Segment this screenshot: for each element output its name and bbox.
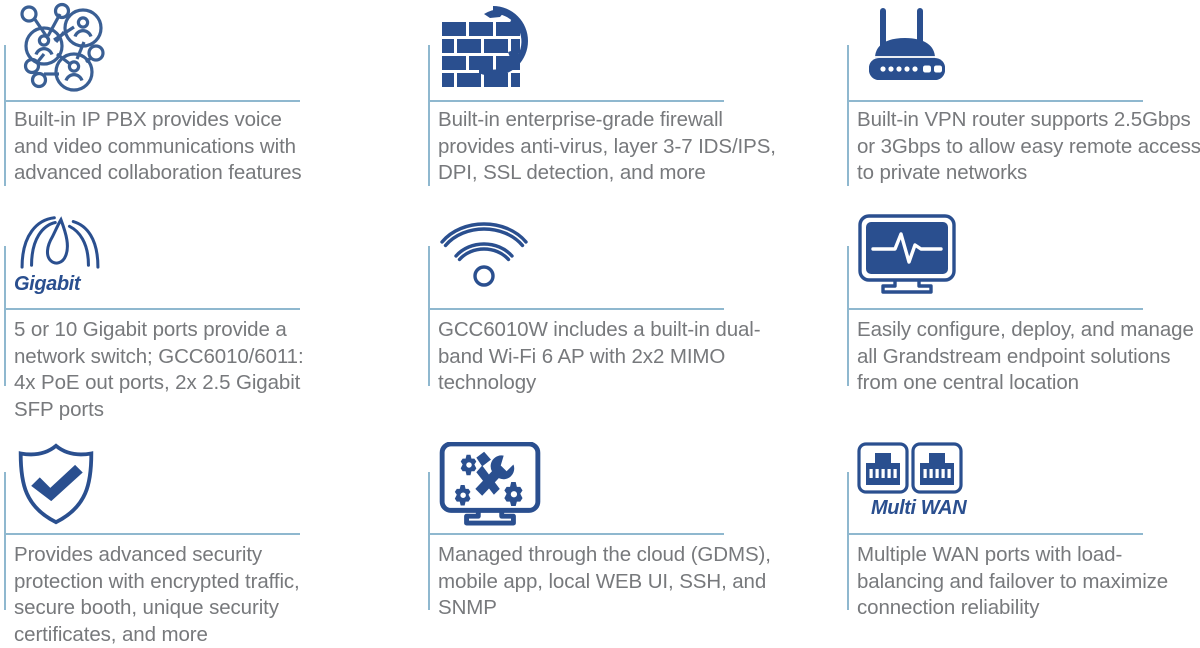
multi-wan-ports-icon [857,442,963,494]
feature-cell-wifi: GCC6010W includes a built-in dual-band W… [424,200,843,430]
vpn-router-icon-wrap [857,4,963,94]
monitor-pulse-icon [857,214,957,294]
feature-cell-central-management: Easily configure, deploy, and manage all… [843,200,1200,430]
wifi-signal-icon [438,214,534,290]
feature-cell-gigabit-ports: Gigabit 5 or 10 Gigabit ports provide a … [0,200,424,430]
monitor-tools-icon-wrap [438,442,542,526]
accent-vertical-rule [428,45,430,186]
gigabit-speed-icon [14,214,106,269]
wifi-signal-icon-wrap [438,214,534,294]
accent-horizontal-rule [428,533,724,535]
firewall-globe-icon [438,2,538,94]
accent-horizontal-rule [4,308,300,310]
accent-horizontal-rule [428,308,724,310]
feature-caption: Easily configure, deploy, and manage all… [857,317,1200,397]
feature-caption: Built-in enterprise-grade firewall provi… [438,107,778,187]
monitor-tools-icon [438,442,542,526]
accent-horizontal-rule [847,533,1143,535]
feature-caption: Managed through the cloud (GDMS), mobile… [438,542,778,622]
feature-caption: 5 or 10 Gigabit ports provide a network … [14,317,314,423]
multi-wan-ports-icon-wrap: Multi WAN [857,442,966,526]
accent-horizontal-rule [428,100,724,102]
accent-vertical-rule [847,246,849,386]
accent-vertical-rule [428,472,430,610]
gigabit-badge-label: Gigabit [14,274,80,294]
feature-grid: Built-in IP PBX provides voice and video… [0,0,1200,648]
network-users-icon [14,2,110,94]
feature-cell-ip-pbx: Built-in IP PBX provides voice and video… [0,0,424,200]
feature-caption: Provides advanced security protection wi… [14,542,314,648]
accent-vertical-rule [847,45,849,186]
accent-horizontal-rule [4,100,300,102]
feature-caption: Built-in IP PBX provides voice and video… [14,107,314,187]
feature-caption: GCC6010W includes a built-in dual-band W… [438,317,778,397]
accent-vertical-rule [847,472,849,610]
accent-vertical-rule [4,472,6,610]
feature-caption: Built-in VPN router supports 2.5Gbps or … [857,107,1200,187]
feature-cell-vpn-router: Built-in VPN router supports 2.5Gbps or … [843,0,1200,200]
feature-cell-firewall: Built-in enterprise-grade firewall provi… [424,0,843,200]
firewall-globe-icon-wrap [438,4,538,94]
gigabit-speed-icon-wrap: Gigabit [14,214,106,294]
shield-check-icon [14,442,98,526]
feature-caption: Multiple WAN ports with load-balancing a… [857,542,1200,622]
accent-vertical-rule [4,246,6,386]
shield-check-icon-wrap [14,442,98,526]
accent-horizontal-rule [847,100,1143,102]
accent-vertical-rule [428,246,430,386]
accent-horizontal-rule [4,533,300,535]
accent-horizontal-rule [847,308,1143,310]
feature-cell-security: Provides advanced security protection wi… [0,430,424,648]
feature-cell-cloud-management: Managed through the cloud (GDMS), mobile… [424,430,843,648]
feature-cell-multi-wan: Multi WAN Multiple WAN ports with load-b… [843,430,1200,648]
monitor-pulse-icon-wrap [857,214,957,294]
multi-wan-badge-label: Multi WAN [871,498,966,518]
accent-vertical-rule [4,45,6,186]
vpn-router-icon [857,2,963,94]
network-users-icon-wrap [14,4,110,94]
